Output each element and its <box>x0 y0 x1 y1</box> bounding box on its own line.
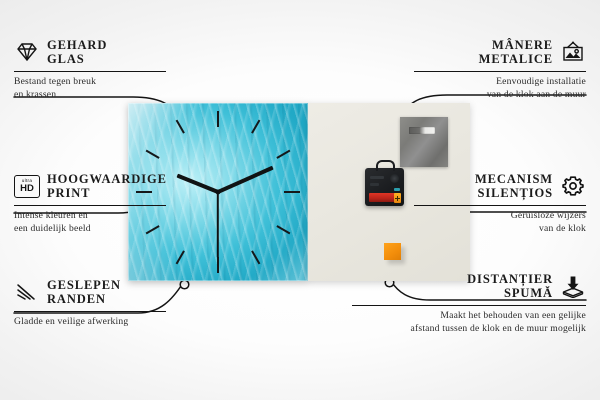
hanger-keyhole-slot <box>409 127 435 134</box>
callout-divider <box>14 205 166 206</box>
tick-11 <box>176 120 185 134</box>
callout-mecanism-silentios: MECANISM SILENȚIOS Geruisloze wijzers va… <box>414 172 586 236</box>
tick-3 <box>284 191 300 193</box>
callout-title: HOOGWAARDIGE PRINT <box>47 172 167 200</box>
quartz-mechanism-part <box>365 168 404 206</box>
arrow-onto-stack-icon <box>560 274 586 298</box>
callout-title: MECANISM SILENȚIOS <box>475 172 553 200</box>
callout-description: Eenvoudige installatie van de klok aan d… <box>414 76 586 101</box>
tick-5 <box>251 250 260 264</box>
callout-description: Gladde en veilige afwerking <box>14 316 166 329</box>
callout-header: DISTANȚIER SPUMĂ <box>352 272 586 300</box>
diagonal-lines-icon <box>14 280 40 304</box>
callout-header: GEHARD GLAS <box>14 38 166 66</box>
tick-7 <box>176 250 185 264</box>
second-hand <box>217 192 219 258</box>
callout-divider <box>414 71 586 72</box>
callout-header: MÂNERE METALICE <box>414 38 586 66</box>
callout-divider <box>14 71 166 72</box>
callout-distantier-spuma: DISTANȚIER SPUMĂ Maakt het behouden van … <box>352 272 586 336</box>
clock-center-hub <box>216 190 221 195</box>
mechanism-bar-bottom <box>370 183 379 186</box>
tick-10 <box>146 150 160 159</box>
callout-header: MECANISM SILENȚIOS <box>414 172 586 200</box>
callout-header: ultra HD HOOGWAARDIGE PRINT <box>14 172 166 200</box>
callout-header: GESLEPEN RANDEN <box>14 278 166 306</box>
callout-description: Intense kleuren en een duidelijk beeld <box>14 210 166 235</box>
mechanism-dial <box>390 174 399 183</box>
tick-4 <box>276 225 290 234</box>
diamond-icon <box>14 40 40 64</box>
callout-divider <box>14 311 166 312</box>
tick-2 <box>276 150 290 159</box>
metal-hanger-part <box>400 117 448 167</box>
gear-icon <box>560 174 586 198</box>
callout-manere-metalice: MÂNERE METALICE Eenvoudige installatie v… <box>414 38 586 102</box>
callout-title: DISTANȚIER SPUMĂ <box>467 272 553 300</box>
mechanism-teal-marker <box>394 188 400 191</box>
callout-divider <box>414 205 586 206</box>
hd-label: HD <box>20 184 34 194</box>
callout-geslepen-randen: GESLEPEN RANDEN Gladde en veilige afwerk… <box>14 278 166 329</box>
callout-description: Maakt het behouden van een gelijke afsta… <box>352 310 586 335</box>
callout-title: GEHARD GLAS <box>47 38 107 66</box>
foam-spacer-part <box>384 243 401 260</box>
tick-6 <box>217 257 219 273</box>
callout-description: Bestand tegen breuk en krassen <box>14 76 166 101</box>
mechanism-bar-top <box>370 176 384 179</box>
callout-hoogwaardige-print: ultra HD HOOGWAARDIGE PRINT Intense kleu… <box>14 172 166 236</box>
battery-plus-sign <box>395 196 400 201</box>
framed-picture-hanging-icon <box>560 40 586 64</box>
callout-title: GESLEPEN RANDEN <box>47 278 121 306</box>
mechanism-shaft <box>376 160 395 171</box>
callout-description: Geruisloze wijzers van de klok <box>414 210 586 235</box>
minute-hand <box>217 166 273 194</box>
callout-divider <box>352 305 586 306</box>
infographic-canvas: GEHARD GLAS Bestand tegen breuk en krass… <box>0 0 600 400</box>
tick-1 <box>251 120 260 134</box>
hour-hand <box>176 174 218 194</box>
callout-gehard-glas: GEHARD GLAS Bestand tegen breuk en krass… <box>14 38 166 102</box>
tick-12 <box>217 111 219 127</box>
ultra-hd-icon: ultra HD <box>14 174 40 198</box>
battery-part <box>369 193 396 202</box>
callout-title: MÂNERE METALICE <box>479 38 553 66</box>
wire-endpoint-geslepen-randen <box>180 280 189 289</box>
